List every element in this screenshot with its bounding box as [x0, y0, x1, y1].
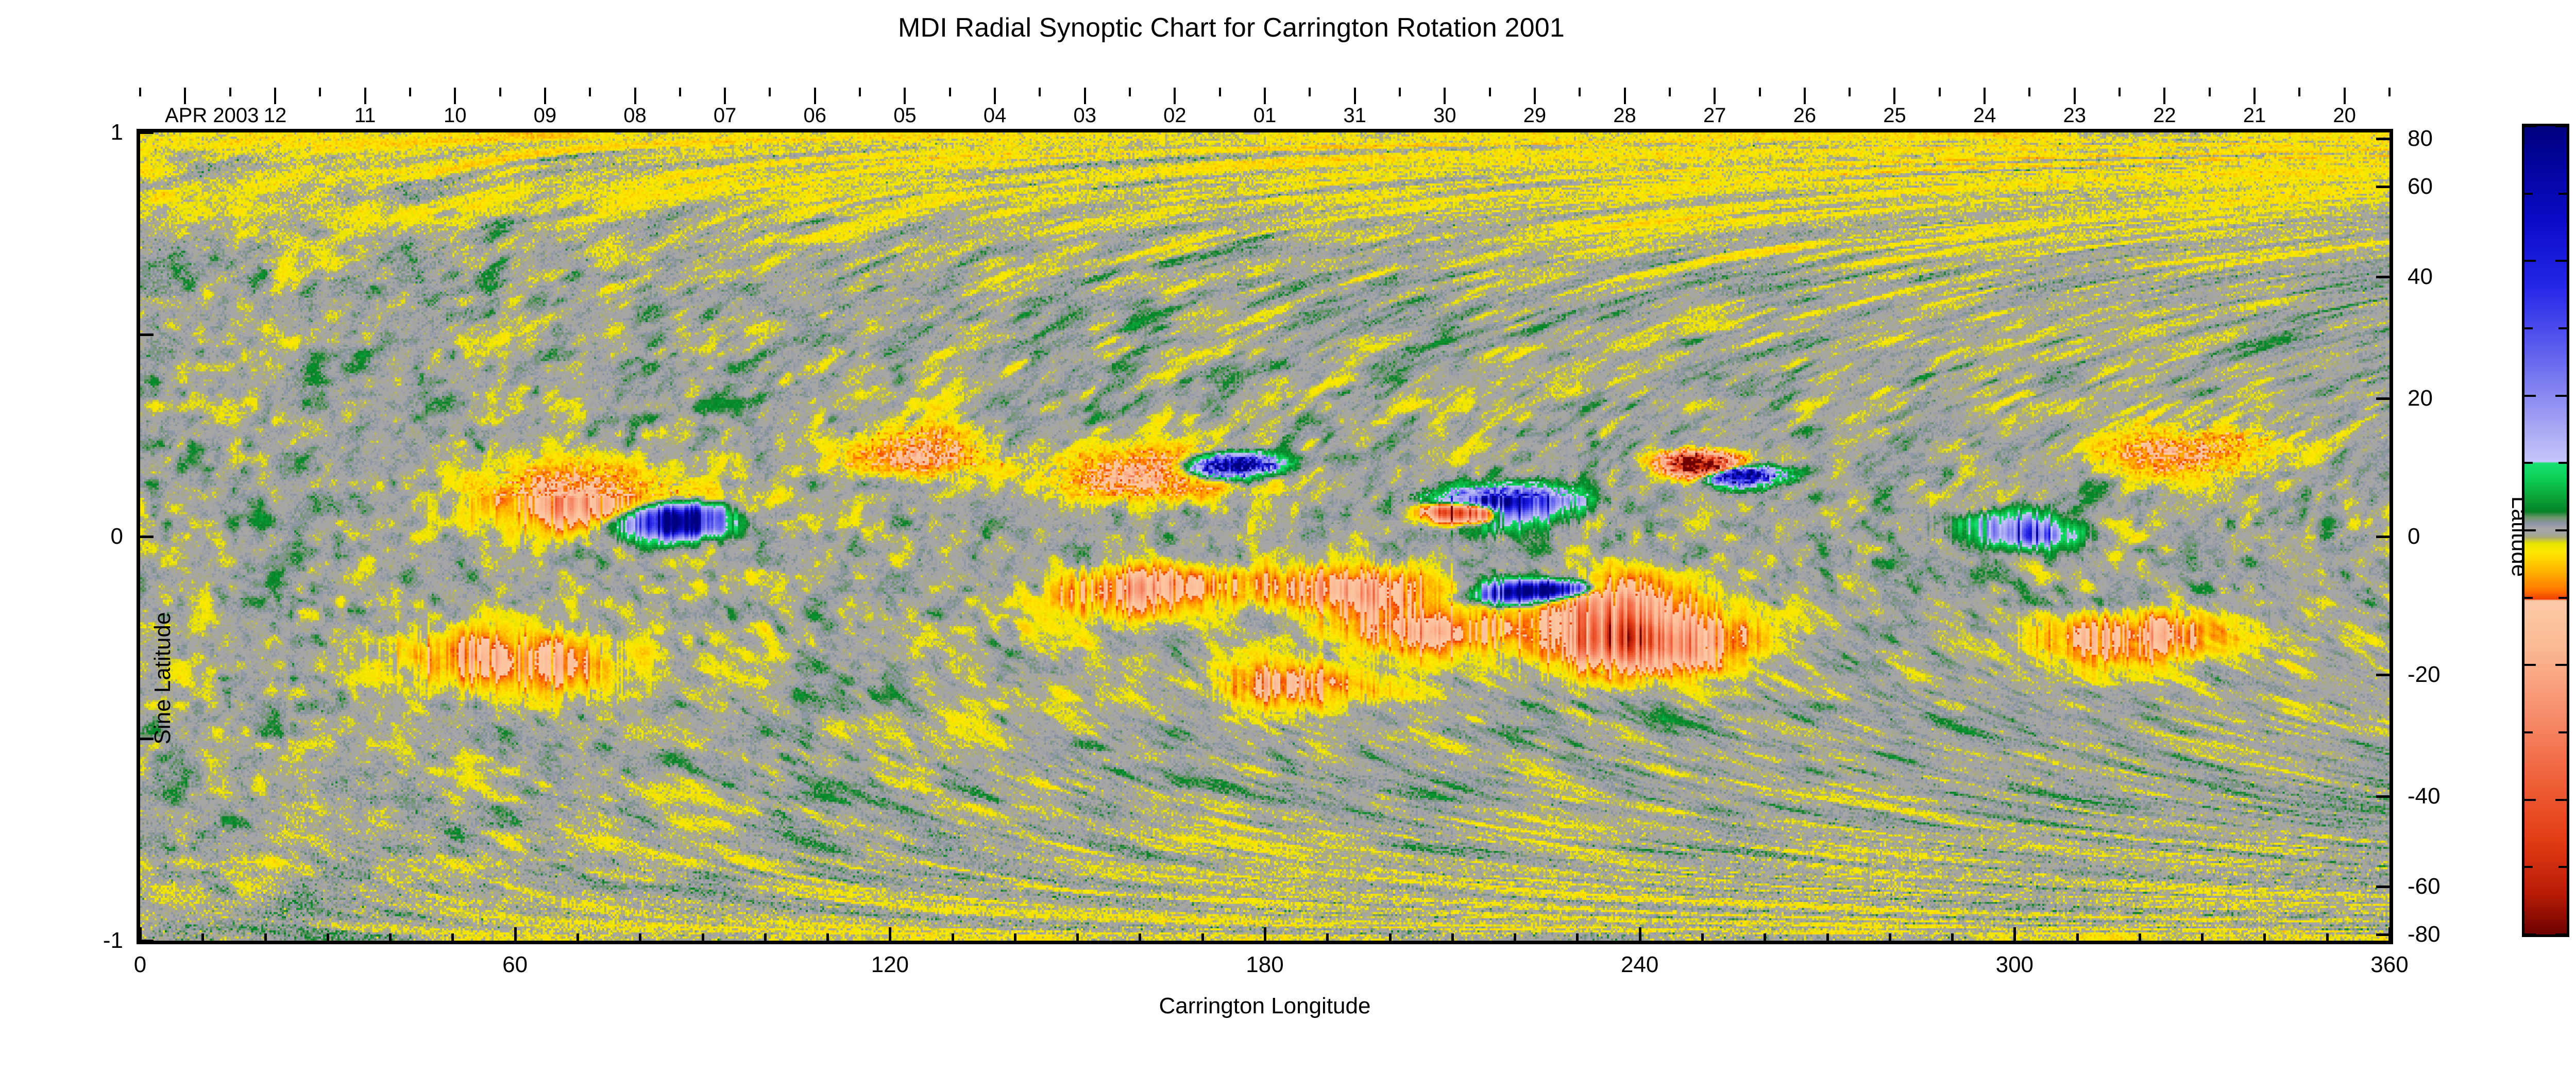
- top-axis-minor-tick: [1669, 88, 1671, 96]
- x-axis-minor-tick: [1826, 935, 1828, 944]
- magnetogram-plot-area: [137, 129, 2393, 944]
- x-axis-minor-tick: [451, 935, 453, 944]
- x-axis-minor-tick: [639, 935, 641, 944]
- x-axis-minor-tick: [1201, 935, 1204, 944]
- x-axis-minor-tick: [2201, 935, 2203, 944]
- top-axis-tick-label: 24: [1973, 105, 1996, 126]
- top-axis-tick: [1984, 88, 1986, 104]
- top-axis-minor-tick: [679, 88, 681, 96]
- top-axis-tick: [1264, 88, 1266, 104]
- x-axis-tick: [1264, 928, 1266, 944]
- x-axis-tick-label: 180: [1246, 954, 1283, 976]
- top-axis-minor-tick: [2119, 88, 2121, 96]
- top-axis-tick-label: 03: [1073, 105, 1096, 126]
- x-axis-minor-tick: [1764, 935, 1766, 944]
- right-latitude-axis: 806040200-20-40-60-80: [2393, 129, 2517, 944]
- top-axis-tick-label: 21: [2243, 105, 2266, 126]
- y-axis-right-tick-label: -40: [2408, 785, 2441, 808]
- x-axis-minor-tick: [1139, 935, 1141, 944]
- y-axis-right-tick-label: 80: [2408, 127, 2433, 150]
- top-axis-minor-tick: [319, 88, 321, 96]
- top-axis-minor-tick: [1489, 88, 1491, 96]
- x-axis-minor-tick: [1701, 935, 1703, 944]
- top-axis-tick: [2074, 88, 2076, 104]
- x-axis-minor-tick: [1389, 935, 1391, 944]
- top-axis-tick: [544, 88, 546, 104]
- top-axis-minor-tick: [1759, 88, 1761, 96]
- top-axis-tick-label: 26: [1793, 105, 1817, 126]
- top-axis-tick-label: 02: [1163, 105, 1187, 126]
- x-axis-minor-tick: [764, 935, 766, 944]
- x-axis-tick: [139, 928, 141, 944]
- x-axis-minor-tick: [1326, 935, 1328, 944]
- x-axis-tick: [514, 928, 516, 944]
- top-axis-tick: [814, 88, 816, 104]
- top-axis-minor-tick: [2209, 88, 2211, 96]
- x-axis-minor-tick: [952, 935, 954, 944]
- top-axis-tick: [2163, 88, 2165, 104]
- y-axis-right-tick-label: 20: [2408, 387, 2433, 410]
- top-axis-tick-label: 04: [984, 105, 1007, 126]
- x-axis-tick-label: 240: [1621, 954, 1658, 976]
- top-axis-minor-tick: [1219, 88, 1221, 96]
- x-axis-minor-tick: [2263, 935, 2265, 944]
- x-axis-minor-tick: [1014, 935, 1016, 944]
- x-axis-tick: [2013, 928, 2015, 944]
- top-axis-minor-tick: [1309, 88, 1311, 96]
- top-axis-tick: [1624, 88, 1626, 104]
- top-axis-tick-label: 23: [2063, 105, 2087, 126]
- x-axis-minor-tick: [577, 935, 579, 944]
- x-axis-tick-label: 120: [871, 954, 909, 976]
- y-axis-left-tick-label: 0: [111, 525, 123, 548]
- top-axis-tick-label: 08: [623, 105, 647, 126]
- top-axis-tick-label: 01: [1253, 105, 1277, 126]
- x-axis-minor-tick: [327, 935, 329, 944]
- x-axis-tick: [2388, 928, 2391, 944]
- top-axis-minor-tick: [2028, 88, 2030, 96]
- top-axis-tick: [1444, 88, 1446, 104]
- x-axis-minor-tick: [2139, 935, 2141, 944]
- top-axis-minor-tick: [949, 88, 951, 96]
- x-axis-minor-tick: [1576, 935, 1578, 944]
- top-axis-tick: [1084, 88, 1086, 104]
- top-axis-tick: [454, 88, 456, 104]
- y-axis-right-tick-label: 0: [2408, 525, 2420, 548]
- colorbar-image: [2524, 126, 2567, 934]
- top-axis-tick-label: 07: [714, 105, 737, 126]
- top-axis-minor-tick: [1399, 88, 1401, 96]
- top-axis-tick: [1534, 88, 1536, 104]
- y-axis-right-tick-label: 40: [2408, 265, 2433, 288]
- top-axis-minor-tick: [139, 88, 141, 96]
- x-axis-minor-tick: [201, 935, 204, 944]
- top-axis-tick: [724, 88, 726, 104]
- top-axis-tick: [184, 88, 186, 104]
- top-axis-minor-tick: [499, 88, 501, 96]
- top-axis-minor-tick: [1129, 88, 1131, 96]
- x-axis-tick: [1639, 928, 1641, 944]
- x-axis-minor-tick: [1451, 935, 1453, 944]
- y-axis-right-tick-label: -60: [2408, 875, 2441, 898]
- top-axis-tick: [1174, 88, 1176, 104]
- top-axis-tick-label: 30: [1433, 105, 1456, 126]
- top-axis-tick-label: 27: [1703, 105, 1726, 126]
- top-axis-minor-tick: [1579, 88, 1581, 96]
- top-axis-tick-label: 28: [1613, 105, 1636, 126]
- x-axis-minor-tick: [2326, 935, 2328, 944]
- page-title: MDI Radial Synoptic Chart for Carrington…: [0, 12, 2463, 43]
- synoptic-chart-figure: MDI Radial Synoptic Chart for Carrington…: [0, 0, 2576, 1048]
- top-axis-minor-tick: [1849, 88, 1851, 96]
- top-axis-tick: [634, 88, 636, 104]
- top-axis-tick-label: 06: [804, 105, 827, 126]
- top-axis-minor-tick: [2388, 88, 2391, 96]
- x-axis-tick-label: 360: [2370, 954, 2408, 976]
- colorbar-gradient: [2522, 124, 2569, 937]
- top-axis-tick: [1354, 88, 1356, 104]
- x-axis-minor-tick: [264, 935, 266, 944]
- x-axis-minor-tick: [2076, 935, 2078, 944]
- x-axis-tick-label: 0: [134, 954, 146, 976]
- top-axis-minor-tick: [589, 88, 591, 96]
- top-axis-tick-label: 12: [264, 105, 287, 126]
- top-axis-minor-tick: [1939, 88, 1941, 96]
- top-axis-minor-tick: [409, 88, 411, 96]
- y-axis-left-tick-label: 1: [111, 121, 123, 144]
- x-axis-tick-label: 60: [502, 954, 528, 976]
- y-axis-right-tick-label: 60: [2408, 175, 2433, 198]
- top-axis-tick: [364, 88, 366, 104]
- top-axis-tick: [1804, 88, 1806, 104]
- top-axis-tick: [994, 88, 996, 104]
- top-axis-tick-label: 31: [1343, 105, 1366, 126]
- top-axis-tick-label: 10: [444, 105, 467, 126]
- x-axis-minor-tick: [389, 935, 391, 944]
- x-axis-minor-tick: [1514, 935, 1516, 944]
- top-axis-tick: [2253, 88, 2256, 104]
- top-axis-tick: [904, 88, 906, 104]
- top-axis-tick-label: 29: [1523, 105, 1547, 126]
- x-axis-minor-tick: [702, 935, 704, 944]
- top-axis-tick-label: 05: [893, 105, 917, 126]
- y-axis-right-tick-label: -20: [2408, 663, 2441, 686]
- x-axis-tick: [889, 928, 891, 944]
- x-axis-minor-tick: [1076, 935, 1078, 944]
- x-axis-minor-tick: [1889, 935, 1891, 944]
- top-axis-tick-label: 25: [1883, 105, 1906, 126]
- top-axis-month-label: APR 2003: [165, 105, 259, 126]
- y-axis-left-tick-label: -1: [103, 929, 123, 952]
- top-axis-minor-tick: [859, 88, 861, 96]
- top-axis-minor-tick: [2298, 88, 2300, 96]
- x-axis-minor-tick: [826, 935, 828, 944]
- top-axis-minor-tick: [229, 88, 231, 96]
- top-axis-minor-tick: [1039, 88, 1041, 96]
- top-axis-tick: [274, 88, 276, 104]
- colorbar: 150010005000-500-1000-1500: [2522, 124, 2576, 948]
- top-axis-tick-label: 11: [354, 105, 376, 126]
- x-axis-title: Carrington Longitude: [137, 993, 2393, 1019]
- x-axis-minor-tick: [1951, 935, 1953, 944]
- top-axis-tick: [1714, 88, 1716, 104]
- x-axis-tick-label: 300: [1996, 954, 2033, 976]
- top-axis-tick-label: 09: [534, 105, 557, 126]
- top-axis-minor-tick: [769, 88, 771, 96]
- top-axis-tick-label: 22: [2153, 105, 2176, 126]
- top-date-axis: 1211100908070605040302013130292827262524…: [137, 88, 2393, 129]
- left-sine-latitude-axis: Sine Latitude 10-1: [75, 129, 137, 944]
- magnetogram-image: [140, 132, 2389, 941]
- top-axis-tick: [1893, 88, 1895, 104]
- y-axis-right-tick-label: -80: [2408, 923, 2441, 946]
- top-axis-tick: [2344, 88, 2346, 104]
- top-axis-tick-label: 20: [2333, 105, 2356, 126]
